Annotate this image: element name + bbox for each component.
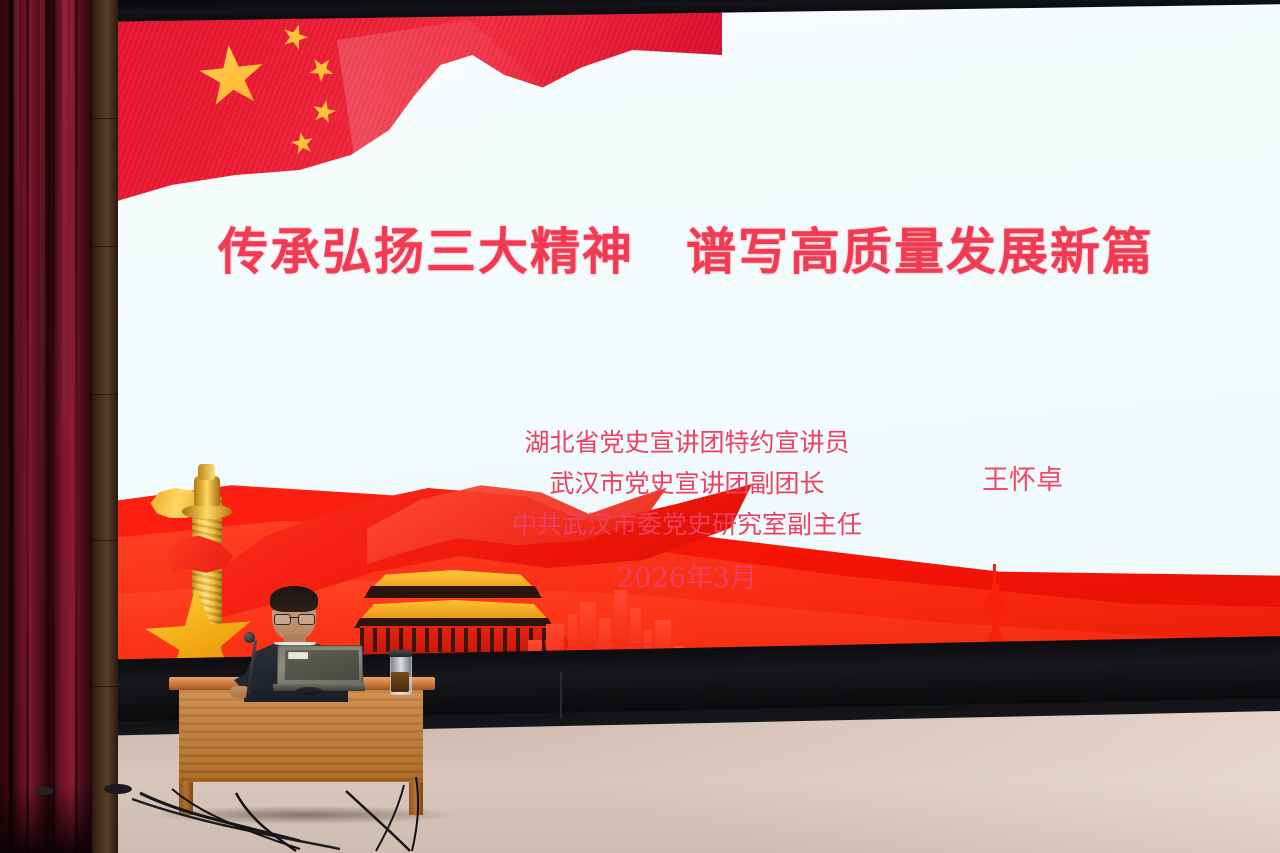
podium-leg-left — [179, 782, 193, 815]
curtain-highlight — [62, 0, 67, 853]
slide-title: 传承弘扬三大精神 谱写高质量发展新篇 — [92, 212, 1280, 284]
huabiao-finial — [198, 464, 215, 480]
curtain-fold — [52, 0, 55, 853]
wall-seam — [92, 394, 118, 395]
tower-upper-sphere — [984, 595, 1007, 618]
tiananmen-columns — [360, 628, 548, 652]
slide-subtitle-line-2: 武汉市党史宣讲团副团长 — [422, 463, 952, 504]
podium-leg-right — [409, 782, 423, 815]
slide-date: 2026年3月 — [422, 556, 952, 595]
led-screen: 党史学习 — [92, 3, 1280, 686]
glasses-bridge — [289, 617, 298, 618]
podium-wood-grain — [179, 690, 423, 782]
slide-presenter-name: 王怀卓 — [982, 458, 1063, 497]
screen-base-seam — [560, 672, 562, 718]
glasses-left-lens — [274, 614, 291, 625]
side-wall-strip — [92, 0, 118, 853]
huabiao-cap — [194, 476, 220, 506]
speaker-glasses-icon — [274, 614, 314, 623]
stage-curtain-left — [0, 0, 92, 853]
presentation-photo-scene: 党史学习 — [0, 0, 1280, 853]
curtain-highlight — [40, 0, 45, 853]
cup-lid — [388, 650, 412, 657]
laptop-lid — [277, 645, 364, 687]
curtain-fold — [26, 0, 29, 853]
slide-subtitle-line-3: 中共武汉市委党史研究室副主任 — [422, 504, 952, 545]
glasses-right-lens — [298, 614, 315, 625]
laptop-computer[interactable] — [275, 645, 363, 693]
slide-subtitle-block: 湖北省党史宣讲团特约宣讲员 武汉市党史宣讲团副团长 中共武汉市委党史研究室副主任 — [422, 422, 952, 545]
curtain-highlight — [14, 0, 19, 853]
cup-tea-contents — [391, 672, 409, 692]
wall-seam — [92, 246, 118, 247]
curtain-bottom-shadow — [0, 783, 92, 853]
curtain-fold — [75, 0, 78, 853]
laptop-sticker — [288, 652, 308, 659]
microphone-base — [296, 687, 322, 695]
slide-subtitle-line-1: 湖北省党史宣讲团特约宣讲员 — [422, 422, 952, 463]
slide-canvas: 党史学习 — [92, 14, 1280, 686]
curtain-fold — [9, 0, 12, 853]
wall-seam — [92, 540, 118, 541]
huabiao-disc — [182, 504, 232, 519]
speaker-hair — [270, 586, 318, 612]
wall-seam — [92, 686, 118, 687]
wall-seam — [92, 118, 118, 119]
tower-spire — [993, 564, 996, 590]
